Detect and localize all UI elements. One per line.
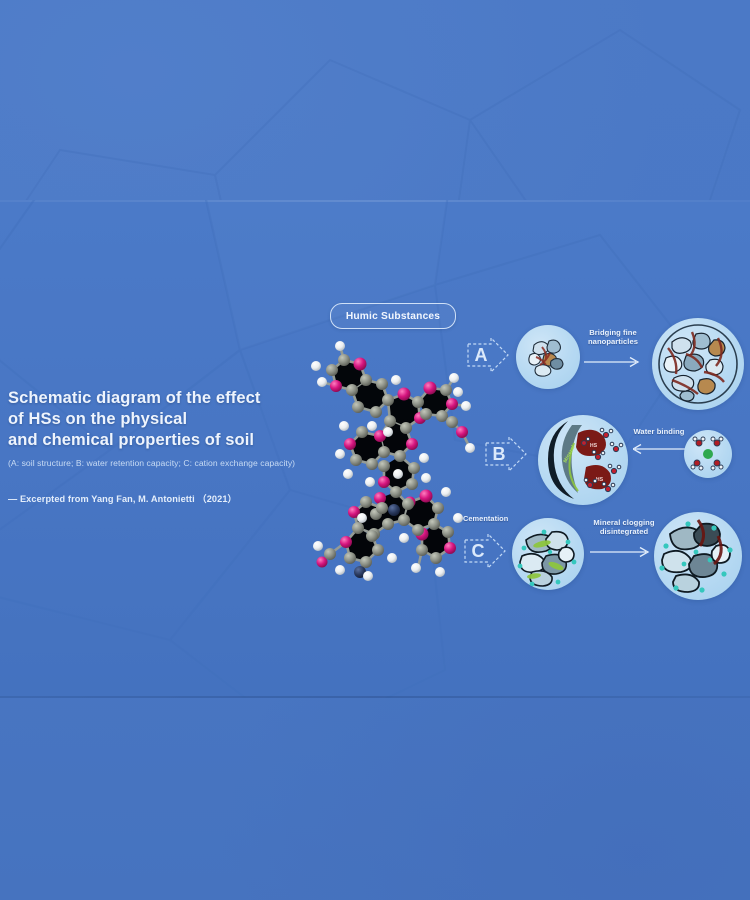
panel-a-flow-label-line2: nanoparticles xyxy=(575,337,651,346)
panel-c-flow-label: Mineral clogging disintegrated xyxy=(578,518,670,537)
panel-c-pre-label: Cementation xyxy=(463,514,508,523)
panel-marker-a: A xyxy=(466,335,510,375)
panel-a-flow-label-line1: Bridging fine xyxy=(575,328,651,337)
source-attribution: — Excerpted from Yang Fan, M. Antonietti… xyxy=(8,491,348,505)
title-line-1: Schematic diagram of the effect xyxy=(8,388,348,409)
panel-b-circle-water xyxy=(684,430,732,478)
panel-a-flow-label: Bridging fine nanoparticles xyxy=(575,328,651,347)
humic-substances-label-text: Humic Substances xyxy=(346,311,440,322)
panel-marker-c: C xyxy=(463,531,507,571)
panel-c-flow-label-line1: Mineral clogging xyxy=(578,518,670,527)
content-band: Schematic diagram of the effect of HSs o… xyxy=(0,200,750,698)
page-title: Schematic diagram of the effect of HSs o… xyxy=(8,388,348,451)
panel-b-circle: HS HS Mineral xyxy=(538,415,628,505)
panel-c-circle-before xyxy=(512,518,584,590)
panel-marker-a-label: A xyxy=(466,335,496,375)
panel-a-flow-arrow-icon xyxy=(584,355,646,369)
hs-tag-1: HS xyxy=(590,443,598,449)
panel-b-flow-label: Water binding xyxy=(628,427,690,436)
panel-a-circle-before xyxy=(516,325,580,389)
panel-c-flow-arrow-icon xyxy=(590,545,656,559)
panel-marker-b-label: B xyxy=(484,434,514,474)
title-block: Schematic diagram of the effect of HSs o… xyxy=(8,388,348,505)
panel-c-flow-label-line2: disintegrated xyxy=(578,527,670,536)
humic-substance-molecule xyxy=(300,322,490,607)
panel-c-circle-after xyxy=(654,512,742,600)
panel-b-flow-label-line1: Water binding xyxy=(628,427,690,436)
figure-canvas: Schematic diagram of the effect of HSs o… xyxy=(0,0,750,900)
panel-a-circle-after xyxy=(652,318,744,410)
hs-tag-2: HS xyxy=(596,477,604,483)
title-subnote: (A: soil structure; B: water retention c… xyxy=(8,457,348,469)
panel-marker-c-label: C xyxy=(463,531,493,571)
panel-b-flow-arrow-icon xyxy=(633,442,685,456)
title-line-2: of HSs on the physical xyxy=(8,409,348,430)
panel-marker-b: B xyxy=(484,434,528,474)
title-line-3: and chemical properties of soil xyxy=(8,430,348,451)
